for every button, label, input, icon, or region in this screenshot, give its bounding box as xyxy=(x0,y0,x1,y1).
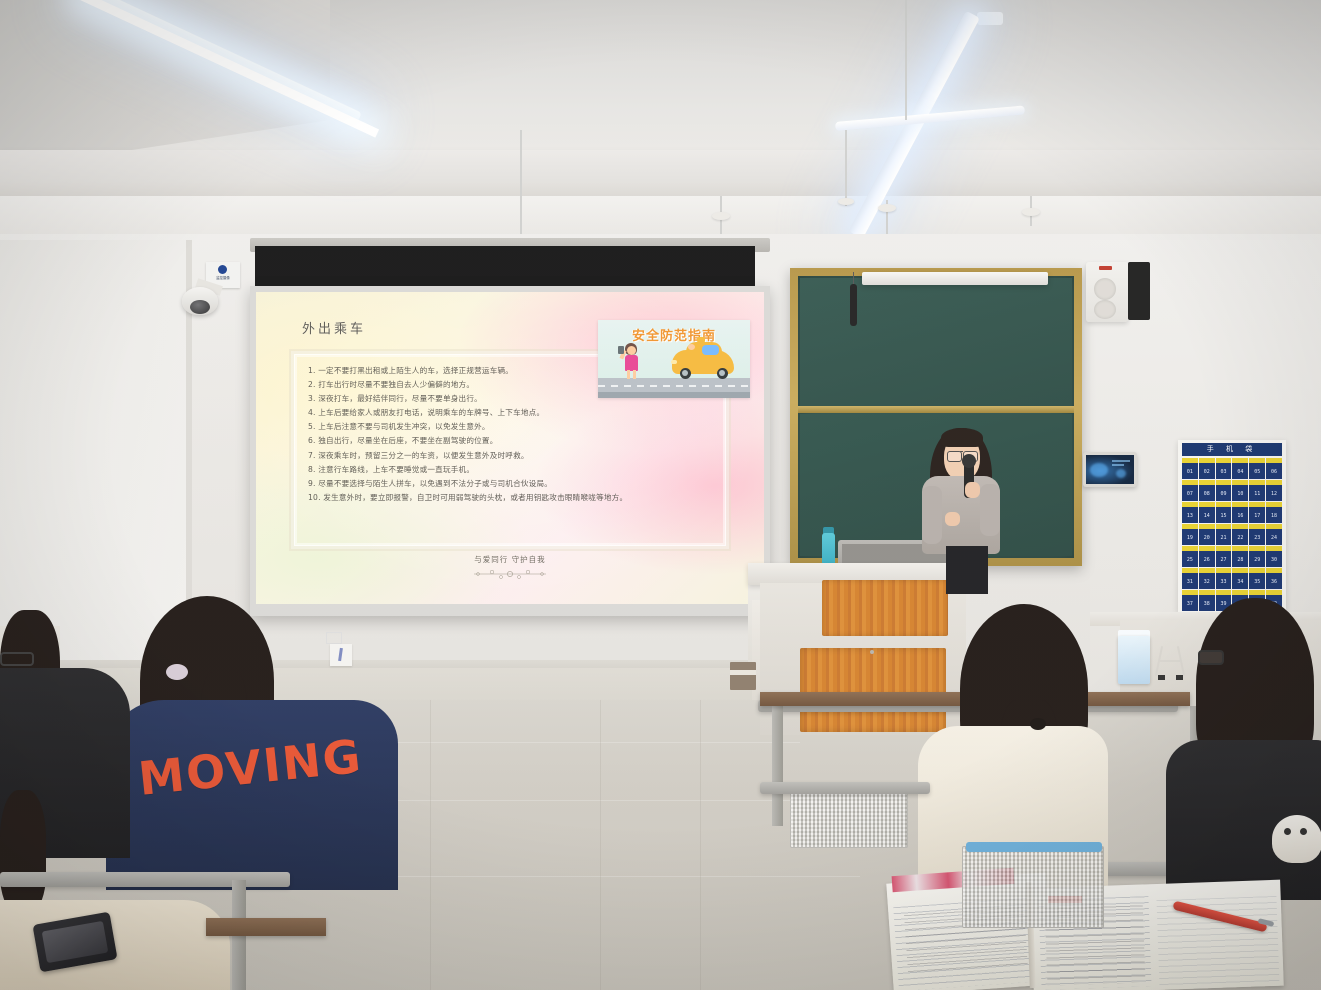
slide-line: 7. 深夜乘车时，预留三分之一的车资，以便发生意外及时呼救。 xyxy=(308,449,748,463)
wall-switch[interactable] xyxy=(330,644,352,666)
microphone-head xyxy=(962,454,976,468)
glasses-bridge xyxy=(960,451,963,452)
presenter-hair-top xyxy=(941,428,983,447)
ac-fan-grille xyxy=(1094,278,1116,300)
floor-tile-line xyxy=(600,700,601,990)
phone-pocket[interactable]: 21 xyxy=(1216,524,1232,545)
slide-line: 5. 上车后注意不要与司机发生冲突，以免发生意外。 xyxy=(308,420,748,434)
slide-line: 8. 注意行车路线，上车不要睡觉或一直玩手机。 xyxy=(308,463,748,477)
taxi-toplight xyxy=(697,337,705,342)
phone-icon xyxy=(618,346,624,354)
desk-rail xyxy=(0,872,290,887)
inset-title-text: 安全防范指南 xyxy=(598,325,750,344)
camera-label-text: 监控摄像 xyxy=(209,275,237,280)
slide-ornament-icon xyxy=(470,568,550,580)
camera-lens xyxy=(190,300,210,314)
phone-pocket[interactable]: 14 xyxy=(1199,502,1215,523)
ceiling-beam xyxy=(0,150,1321,202)
phone-pocket[interactable]: 28 xyxy=(1232,546,1248,567)
pedestrian-body xyxy=(625,355,638,371)
presenter xyxy=(908,424,1018,594)
phone-pocket[interactable]: 29 xyxy=(1249,546,1265,567)
phone-pocket[interactable]: 10 xyxy=(1232,480,1248,501)
light-hanger-rod xyxy=(905,0,907,120)
desk-basket xyxy=(790,786,908,848)
phone-pocket[interactable]: 38 xyxy=(1199,590,1215,611)
phone-pocket[interactable]: 09 xyxy=(1216,480,1232,501)
phone-pocket[interactable]: 31 xyxy=(1182,568,1198,589)
plush-item xyxy=(1272,815,1321,863)
taxi-window xyxy=(702,345,719,355)
phone-pocket[interactable]: 01 xyxy=(1182,458,1198,479)
ceiling-rod-disc xyxy=(1022,208,1040,216)
monitor-bar xyxy=(1112,460,1130,462)
organizer-trim xyxy=(966,842,1102,852)
slide-line: 4. 上车后要给家人或朋友打电话，说明乘车的车牌号、上下车地点。 xyxy=(308,406,748,420)
taxi-wheel xyxy=(680,368,691,379)
phone-pocket[interactable]: 18 xyxy=(1266,502,1282,523)
monitor-graphic xyxy=(1090,463,1108,477)
ceiling-rod-disc xyxy=(712,212,730,220)
slide-line: 10. 发生意外时，要立即报警，自卫时可用弱驾驶的头枕，或者用钥匙攻击眼睛喉咙等… xyxy=(308,491,748,505)
phone-pocket[interactable]: 26 xyxy=(1199,546,1215,567)
lectern-lock[interactable] xyxy=(870,650,874,654)
pedestrian-leg xyxy=(633,370,636,379)
product-box xyxy=(1118,636,1150,684)
phone-pocket[interactable]: 13 xyxy=(1182,502,1198,523)
mesh-organizer xyxy=(962,846,1104,928)
phone-pocket[interactable]: 08 xyxy=(1199,480,1215,501)
pocket-chart-grid: 0102030405060708091011121314151617181920… xyxy=(1182,458,1282,608)
phone-pocket[interactable]: 37 xyxy=(1182,590,1198,611)
wall-plate-small xyxy=(326,632,342,644)
phone-pocket[interactable]: 02 xyxy=(1199,458,1215,479)
hanging-microphone-icon xyxy=(850,284,857,326)
book-page-edge xyxy=(730,670,756,675)
floor-tile-line xyxy=(430,700,431,990)
phone-pocket[interactable]: 20 xyxy=(1199,524,1215,545)
phone-pocket[interactable]: 27 xyxy=(1216,546,1232,567)
glasses-icon xyxy=(947,451,962,462)
wall-speaker xyxy=(1128,262,1150,320)
student-hair xyxy=(0,790,46,910)
ceiling-light-cap xyxy=(977,12,1003,25)
presenter-arm-left xyxy=(922,486,942,544)
pedestrian-head xyxy=(627,346,636,355)
phone-pocket[interactable]: 17 xyxy=(1249,502,1265,523)
slide-line: 9. 尽量不要选择与陌生人拼车，以免遇到不法分子或与司机合伙设局。 xyxy=(308,477,748,491)
pedestrian-leg xyxy=(627,370,630,379)
pocket-chart-header: 手 机 袋 xyxy=(1182,443,1282,456)
phone-pocket[interactable]: 32 xyxy=(1199,568,1215,589)
ac-fan-grille xyxy=(1094,300,1116,319)
inset-road-marking xyxy=(598,385,750,387)
monitor-bar xyxy=(1112,464,1124,466)
phone-pocket[interactable]: 35 xyxy=(1249,568,1265,589)
hair-scrunchie xyxy=(166,664,188,680)
inset-curb xyxy=(598,392,750,398)
glasses-icon xyxy=(1198,650,1224,665)
monitor-graphic xyxy=(1116,469,1126,478)
desk-rail xyxy=(760,782,930,794)
plush-eye xyxy=(1284,828,1291,835)
slide-footer-text: 与爱同行 守护自我 xyxy=(256,554,764,565)
driver-head xyxy=(688,344,695,350)
classroom-photo: 监控摄像 外出乘车 1. 一定不要打黑出租或上陌生人的车，选择正规营运车辆。 2… xyxy=(0,0,1321,990)
plush-eye xyxy=(1300,828,1307,835)
phone-pocket[interactable]: 11 xyxy=(1249,480,1265,501)
phone-pocket[interactable]: 19 xyxy=(1182,524,1198,545)
phone-pocket[interactable]: 06 xyxy=(1266,458,1282,479)
projector-rod xyxy=(520,130,522,235)
floor-tile-line xyxy=(700,700,701,990)
slide-inset-image: 安全防范指南 xyxy=(598,320,750,398)
light-hanger-rod xyxy=(845,130,847,206)
phone-pocket[interactable]: 36 xyxy=(1266,568,1282,589)
phone-pocket[interactable]: 07 xyxy=(1182,480,1198,501)
camera-label-dot xyxy=(218,265,227,274)
blackboard-rail xyxy=(798,406,1074,413)
wall-monitor-screen xyxy=(1086,455,1134,484)
presenter-arm-right xyxy=(980,484,1000,536)
ceiling-rod-disc xyxy=(838,198,854,205)
slide-title: 外出乘车 xyxy=(302,318,366,337)
desk-post xyxy=(772,706,783,826)
lectern-wood-panel-lower xyxy=(800,648,946,732)
desk-surface xyxy=(206,918,326,936)
left-wall xyxy=(0,240,190,670)
presenter-hand-right xyxy=(965,482,980,498)
phone-pocket[interactable]: 33 xyxy=(1216,568,1232,589)
taxi-wheel xyxy=(717,368,728,379)
air-conditioner xyxy=(1086,262,1128,322)
presenter-hand-left xyxy=(945,512,960,526)
phone-pocket[interactable]: 03 xyxy=(1216,458,1232,479)
phone-pocket[interactable]: 05 xyxy=(1249,458,1265,479)
books-stack xyxy=(730,662,756,690)
presenter-skirt xyxy=(946,546,988,594)
ac-indicator-light xyxy=(1099,266,1112,270)
phone-pocket[interactable]: 16 xyxy=(1232,502,1248,523)
phone-pocket[interactable]: 30 xyxy=(1266,546,1282,567)
blackboard-lamp xyxy=(862,272,1048,285)
slide-content: 外出乘车 1. 一定不要打黑出租或上陌生人的车，选择正规营运车辆。 2. 打车出… xyxy=(256,292,764,604)
equipment-stand xyxy=(1158,646,1184,680)
slide-line: 6. 独自出行，尽量坐在后座，不要坐在副驾驶的位置。 xyxy=(308,434,748,448)
phone-pocket[interactable]: 25 xyxy=(1182,546,1198,567)
phone-pocket[interactable]: 04 xyxy=(1232,458,1248,479)
taxi-headlight xyxy=(671,360,677,364)
phone-pocket[interactable]: 22 xyxy=(1232,524,1248,545)
glasses-icon xyxy=(0,652,34,666)
blackboard-upper-panel xyxy=(800,278,1072,406)
phone-pocket[interactable]: 15 xyxy=(1216,502,1232,523)
phone-pocket[interactable]: 24 xyxy=(1266,524,1282,545)
ceiling-rod-disc xyxy=(878,204,896,212)
phone-pocket[interactable]: 34 xyxy=(1232,568,1248,589)
hair-tie xyxy=(1030,718,1046,730)
phone-pocket[interactable]: 12 xyxy=(1266,480,1282,501)
phone-pocket[interactable]: 23 xyxy=(1249,524,1265,545)
